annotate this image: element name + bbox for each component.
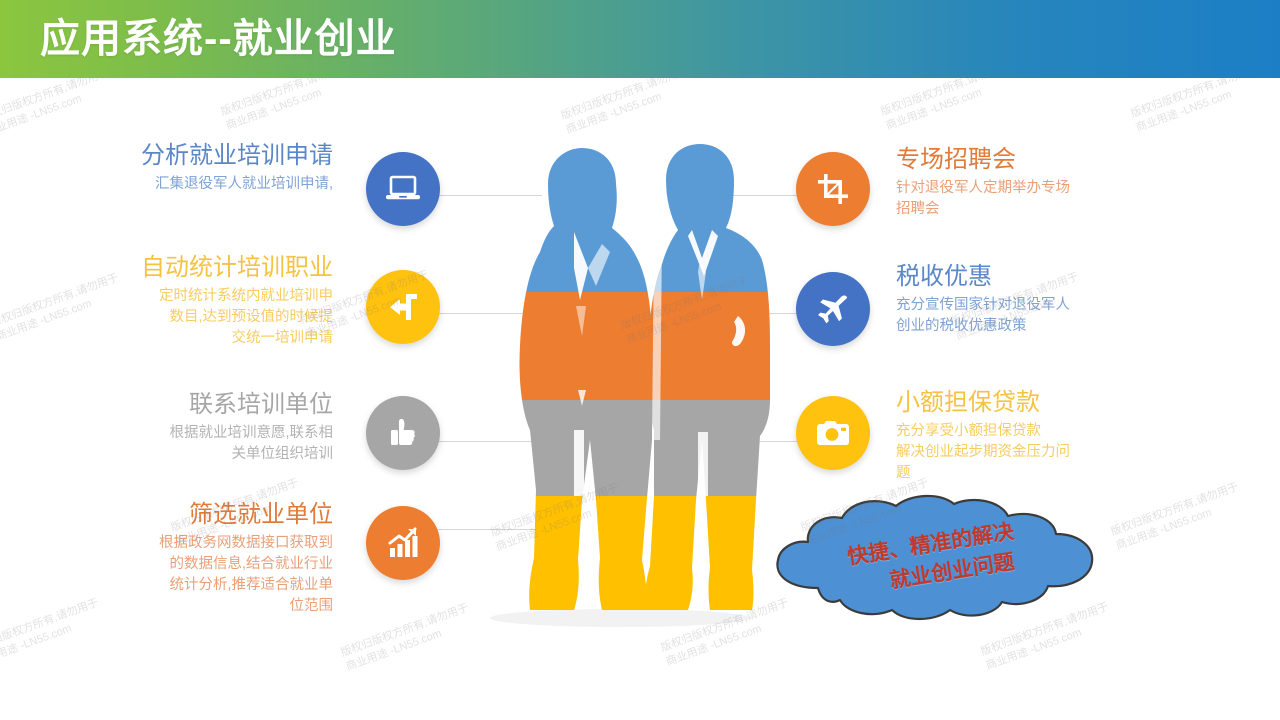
body-line: 根据就业培训意愿,联系相 — [48, 423, 333, 444]
body-line: 的数据信息,结合就业行业 — [48, 554, 333, 575]
text-block-body: 汇集退役军人就业培训申请, — [48, 174, 333, 195]
text-block-title: 自动统计培训职业 — [48, 253, 333, 283]
watermark-text: 版权归版权方所有,请勿用于商业用途 -LN55.com — [559, 78, 696, 138]
camera-icon — [815, 419, 851, 447]
text-block-right-1: 专场招聘会 针对退役军人定期举办专场 招聘会 — [896, 145, 1196, 220]
watermark-text: 版权归版权方所有,请勿用于商业用途 -LN55.com — [339, 601, 476, 675]
text-block-body: 根据就业培训意愿,联系相 关单位组织培训 — [48, 423, 333, 465]
text-block-left-1: 分析就业培训申请 汇集退役军人就业培训申请, — [48, 141, 333, 195]
body-line: 关单位组织培训 — [48, 444, 333, 465]
body-line: 创业的税收优惠政策 — [896, 316, 1196, 337]
icon-laptop-circle[interactable] — [366, 152, 440, 226]
body-line: 题 — [896, 463, 1206, 484]
text-block-left-4: 筛选就业单位 根据政务网数据接口获取到 的数据信息,结合就业行业 统计分析,推荐… — [48, 500, 333, 617]
icon-growth-chart-circle[interactable] — [366, 506, 440, 580]
icon-login-arrow-circle[interactable] — [366, 270, 440, 344]
text-block-title: 联系培训单位 — [48, 390, 333, 420]
body-line: 招聘会 — [896, 199, 1196, 220]
body-line: 位范围 — [48, 596, 333, 617]
text-block-body: 定时统计系统内就业培训申 数目,达到预设值的时候提 交统一培训申请 — [48, 286, 333, 349]
text-block-body: 充分享受小额担保贷款 解决创业起步期资金压力问 题 — [896, 421, 1206, 484]
icon-camera-circle[interactable] — [796, 396, 870, 470]
growth-chart-icon — [386, 527, 420, 559]
thumbs-up-icon — [386, 416, 420, 450]
icon-crop-circle[interactable] — [796, 152, 870, 226]
body-line: 根据政务网数据接口获取到 — [48, 533, 333, 554]
body-line: 充分宣传国家针对退役军人 — [896, 295, 1196, 316]
watermark-text: 版权归版权方所有,请勿用于商业用途 -LN55.com — [219, 78, 356, 134]
login-arrow-icon — [386, 291, 420, 323]
slide-canvas: 应用系统--就业创业 — [0, 0, 1280, 720]
watermark-text: 版权归版权方所有,请勿用于商业用途 -LN55.com — [1129, 78, 1266, 136]
laptop-icon — [385, 174, 421, 204]
crop-icon — [816, 172, 850, 206]
text-block-title: 小额担保贷款 — [896, 388, 1206, 418]
body-line: 充分享受小额担保贷款 — [896, 421, 1206, 442]
cloud-callout: 快捷、精准的解决 就业创业问题 — [756, 492, 1116, 637]
text-block-right-2: 税收优惠 充分宣传国家针对退役军人 创业的税收优惠政策 — [896, 262, 1196, 337]
text-block-body: 根据政务网数据接口获取到 的数据信息,结合就业行业 统计分析,推荐适合就业单 位… — [48, 533, 333, 617]
text-block-title: 税收优惠 — [896, 262, 1196, 292]
text-block-left-3: 联系培训单位 根据就业培训意愿,联系相 关单位组织培训 — [48, 390, 333, 465]
text-block-left-2: 自动统计培训职业 定时统计系统内就业培训申 数目,达到预设值的时候提 交统一培训… — [48, 253, 333, 349]
body-line: 统计分析,推荐适合就业单 — [48, 575, 333, 596]
text-block-body: 充分宣传国家针对退役军人 创业的税收优惠政策 — [896, 295, 1196, 337]
text-block-title: 筛选就业单位 — [48, 500, 333, 530]
icon-airplane-circle[interactable] — [796, 272, 870, 346]
watermark-text: 版权归版权方所有,请勿用于商业用途 -LN55.com — [1109, 480, 1246, 554]
watermark-text: 版权归版权方所有,请勿用于商业用途 -LN55.com — [0, 78, 116, 140]
body-line: 解决创业起步期资金压力问 — [896, 442, 1206, 463]
body-line: 定时统计系统内就业培训申 — [48, 286, 333, 307]
page-title: 应用系统--就业创业 — [40, 13, 397, 65]
watermark-text: 版权归版权方所有,请勿用于商业用途 -LN55.com — [879, 78, 1016, 134]
airplane-icon — [815, 292, 851, 326]
body-line: 交统一培训申请 — [48, 328, 333, 349]
text-block-right-3: 小额担保贷款 充分享受小额担保贷款 解决创业起步期资金压力问 题 — [896, 388, 1206, 484]
body-line: 针对退役军人定期举办专场 — [896, 178, 1196, 199]
text-block-body: 针对退役军人定期举办专场 招聘会 — [896, 178, 1196, 220]
people-silhouette-illustration — [470, 140, 770, 630]
text-block-title: 分析就业培训申请 — [48, 141, 333, 171]
body-line: 数目,达到预设值的时候提 — [48, 307, 333, 328]
body-line: 汇集退役军人就业培训申请, — [48, 174, 333, 195]
text-block-title: 专场招聘会 — [896, 145, 1196, 175]
icon-thumbs-up-circle[interactable] — [366, 396, 440, 470]
